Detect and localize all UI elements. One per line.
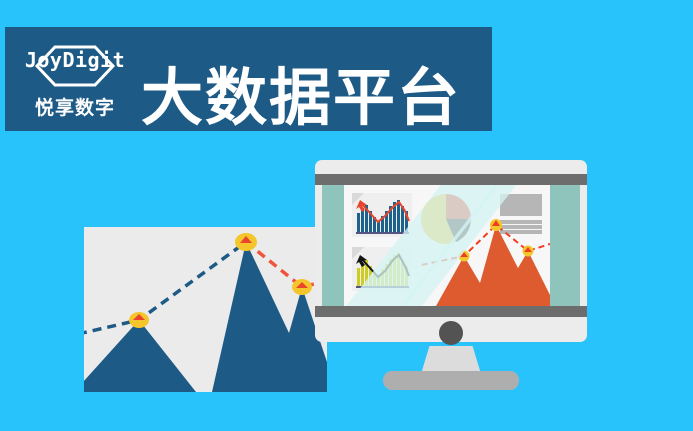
page-title: 大数据平台 [141, 67, 461, 129]
monitor-stand [421, 346, 481, 374]
page-fold-icon [352, 247, 364, 259]
mountain-line-chart [84, 227, 327, 392]
monitor-base [383, 371, 519, 390]
webcam-icon [439, 321, 463, 345]
screen-right-panel [550, 185, 580, 306]
trend-line-left [84, 242, 246, 334]
monitor-screen [322, 185, 580, 306]
mountain-shape [84, 242, 327, 392]
monitor-bottom-bar [315, 306, 587, 317]
desktop-monitor [313, 158, 589, 392]
poster-canvas: JoyDigit 悦享数字 大数据平台 [0, 0, 693, 431]
top-left-bar-chart-card[interactable] [352, 193, 412, 237]
header-banner: JoyDigit 悦享数字 大数据平台 [5, 27, 492, 131]
left-mountain-chart-panel [84, 227, 327, 392]
page-fold-icon [352, 193, 364, 205]
monitor-top-bar [315, 174, 587, 185]
logo-subtitle: 悦享数字 [17, 93, 133, 120]
screen-left-panel [322, 185, 344, 306]
brand-logo: JoyDigit 悦享数字 [17, 35, 133, 123]
logo-wordmark: JoyDigit [17, 49, 133, 71]
